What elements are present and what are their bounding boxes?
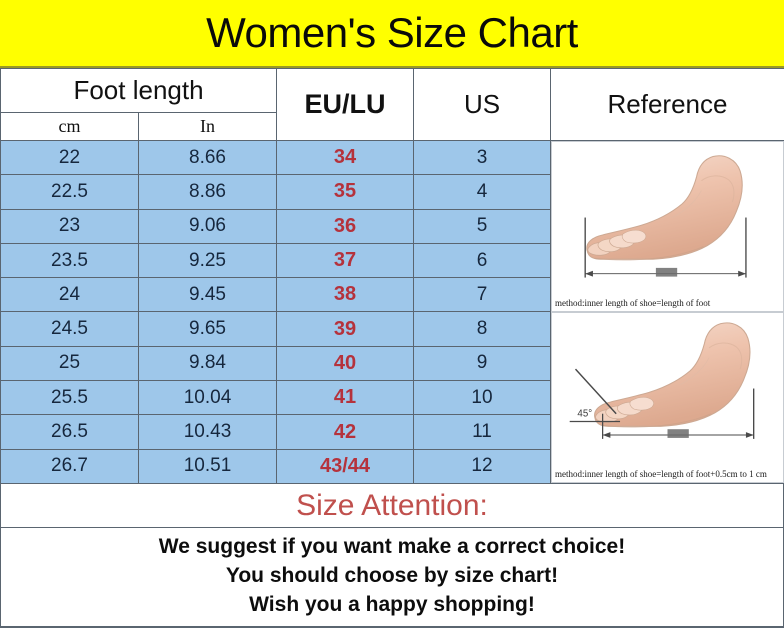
cell-us: 10	[414, 381, 551, 415]
cell-in: 9.84	[139, 346, 277, 380]
cell-us: 4	[414, 175, 551, 209]
header-eu: EU/LU	[277, 69, 414, 141]
cell-eu: 37	[277, 243, 414, 277]
table-row: 22 8.66 34 3	[1, 141, 784, 175]
cell-in: 9.45	[139, 278, 277, 312]
attention-line: We suggest if you want make a correct ch…	[159, 534, 625, 559]
attention-line: Wish you a happy shopping!	[249, 592, 535, 617]
cell-cm: 22.5	[1, 175, 139, 209]
cell-us: 12	[414, 449, 551, 483]
cell-us: 11	[414, 415, 551, 449]
cell-in: 8.86	[139, 175, 277, 209]
attention-body: We suggest if you want make a correct ch…	[0, 528, 784, 628]
cell-in: 10.43	[139, 415, 277, 449]
cell-eu: 43/44	[277, 449, 414, 483]
size-chart-root: Women's Size Chart Foot length EU/LU US …	[0, 0, 784, 643]
reference-cell: method:inner length of shoe=length of fo…	[551, 141, 784, 484]
cell-cm: 22	[1, 141, 139, 175]
cell-in: 9.25	[139, 243, 277, 277]
cell-cm: 23.5	[1, 243, 139, 277]
cell-in: 9.65	[139, 312, 277, 346]
cell-cm: 25.5	[1, 381, 139, 415]
cell-in: 10.51	[139, 449, 277, 483]
angle-label-45: 45°	[577, 409, 592, 420]
cell-cm: 26.7	[1, 449, 139, 483]
cell-us: 6	[414, 243, 551, 277]
cell-eu: 40	[277, 346, 414, 380]
cell-eu: 34	[277, 141, 414, 175]
cell-cm: 24.5	[1, 312, 139, 346]
cell-eu: 38	[277, 278, 414, 312]
header-row-top: Foot length EU/LU US Reference	[1, 69, 784, 113]
attention-title: Size Attention:	[296, 491, 488, 521]
header-reference: Reference	[551, 69, 784, 141]
cell-in: 8.66	[139, 141, 277, 175]
cell-cm: 23	[1, 209, 139, 243]
header-foot-length: Foot length	[1, 69, 277, 113]
attention-line: You should choose by size chart!	[226, 563, 558, 588]
table-header: Foot length EU/LU US Reference cm In	[1, 69, 784, 141]
page-title: Women's Size Chart	[206, 12, 578, 54]
reference-image-1: method:inner length of shoe=length of fo…	[551, 141, 784, 312]
chart-title-band: Women's Size Chart	[0, 0, 784, 68]
cell-cm: 25	[1, 346, 139, 380]
reference-caption-1: method:inner length of shoe=length of fo…	[552, 296, 783, 311]
cell-cm: 26.5	[1, 415, 139, 449]
cell-cm: 24	[1, 278, 139, 312]
attention-title-row: Size Attention:	[0, 484, 784, 528]
size-table: Foot length EU/LU US Reference cm In 22 …	[0, 68, 784, 484]
foot-side-view-angled-icon: 45°	[552, 313, 783, 466]
table-body: 22 8.66 34 3	[1, 141, 784, 484]
cell-eu: 36	[277, 209, 414, 243]
header-in: In	[139, 113, 277, 141]
cell-eu: 35	[277, 175, 414, 209]
cell-us: 5	[414, 209, 551, 243]
header-cm: cm	[1, 113, 139, 141]
cell-eu: 39	[277, 312, 414, 346]
foot-side-view-flat-icon	[552, 142, 783, 295]
reference-image-stack: method:inner length of shoe=length of fo…	[551, 141, 784, 483]
cell-us: 3	[414, 141, 551, 175]
cell-in: 9.06	[139, 209, 277, 243]
cell-eu: 42	[277, 415, 414, 449]
reference-caption-2: method:inner length of shoe=length of fo…	[552, 467, 783, 482]
reference-image-2: 45° method:inner length of shoe=length o…	[551, 312, 784, 483]
cell-eu: 41	[277, 381, 414, 415]
header-us: US	[414, 69, 551, 141]
cell-us: 7	[414, 278, 551, 312]
cell-in: 10.04	[139, 381, 277, 415]
cell-us: 8	[414, 312, 551, 346]
cell-us: 9	[414, 346, 551, 380]
